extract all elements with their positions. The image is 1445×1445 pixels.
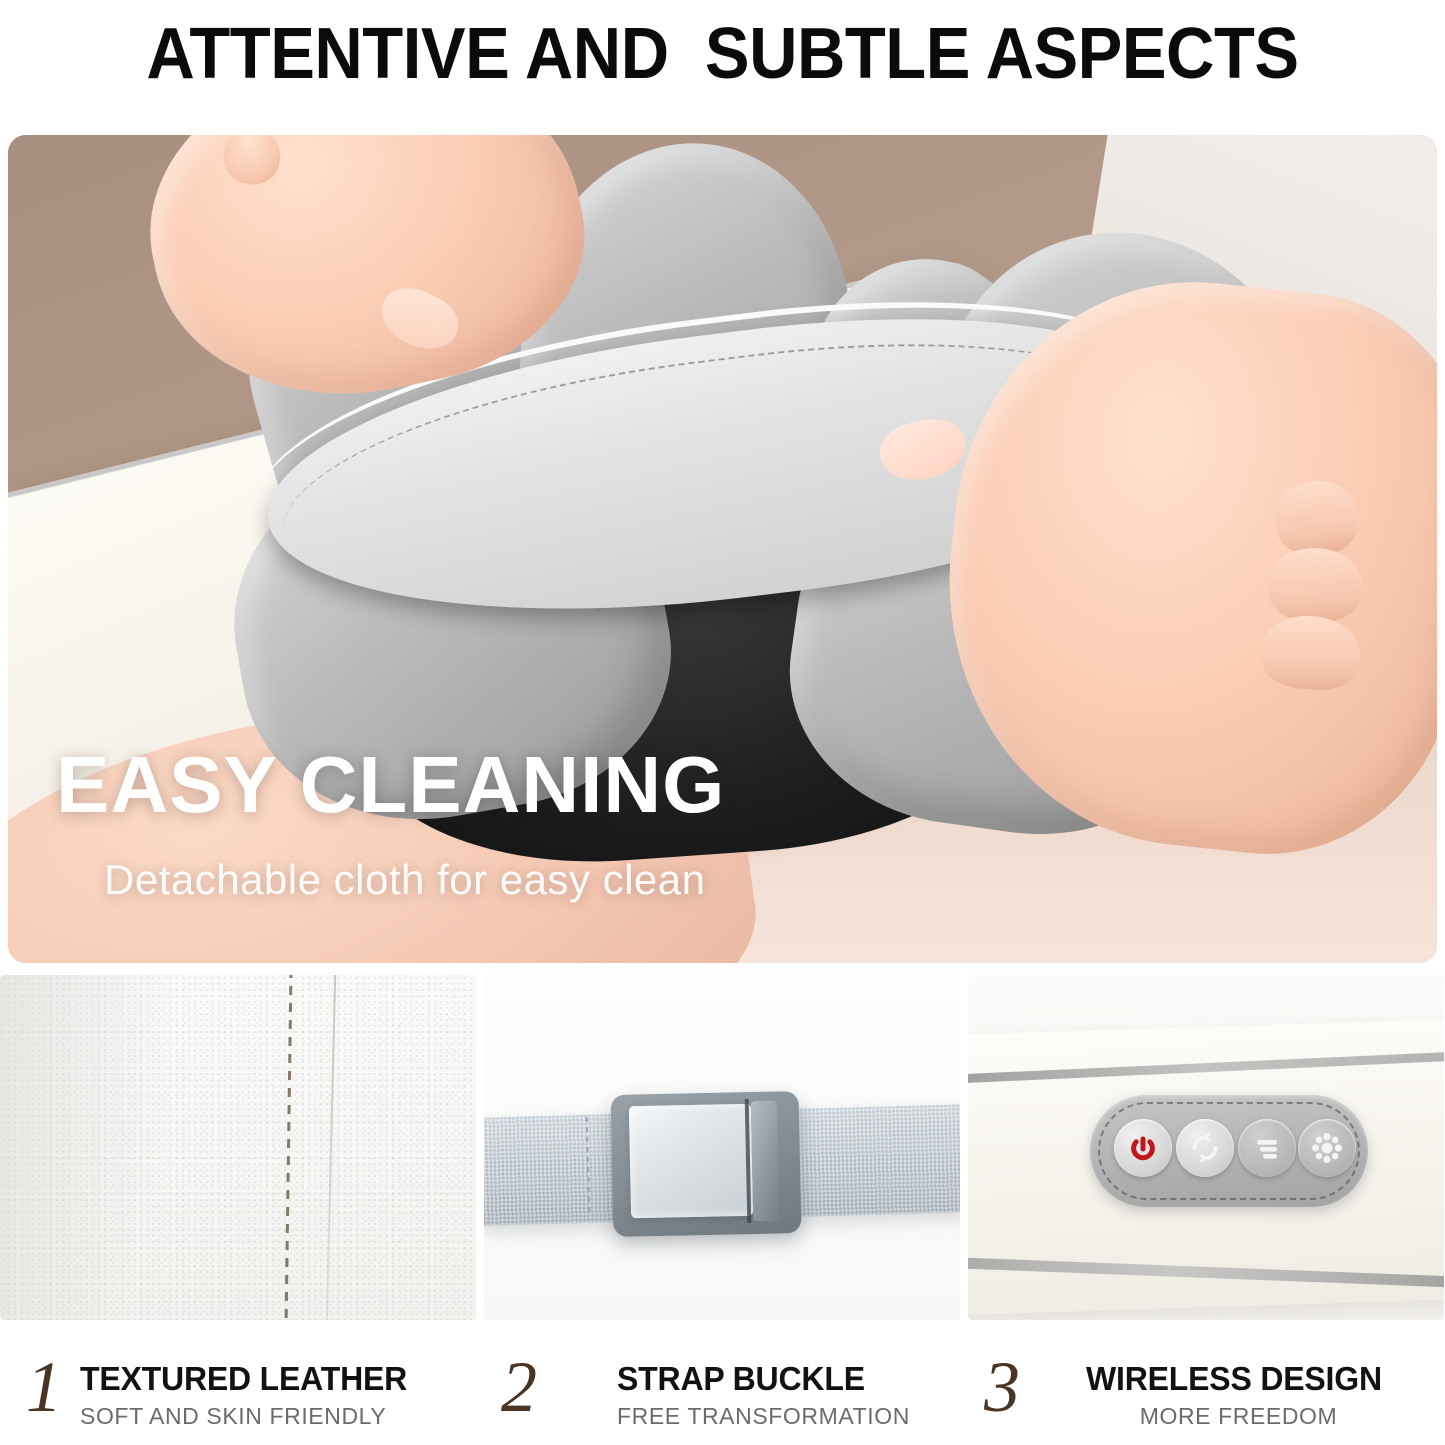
caption-item-2: 2 STRAP BUCKLE FREE TRANSFORMATION bbox=[481, 1338, 962, 1445]
caption-item-3: 3 WIRELESS DESIGN MORE FREEDOM bbox=[962, 1338, 1443, 1445]
leather-shading bbox=[0, 975, 210, 1320]
intensity-level-button[interactable] bbox=[1238, 1119, 1296, 1177]
page-title: ATTENTIVE AND SUBTLE ASPECTS bbox=[51, 16, 1395, 94]
hero-image: EASY CLEANING Detachable cloth for easy … bbox=[8, 135, 1437, 963]
caption-subtitle-2: FREE TRANSFORMATION bbox=[617, 1402, 910, 1431]
caption-number-1: 1 bbox=[26, 1354, 62, 1420]
right-hand-finger-1 bbox=[1274, 479, 1359, 555]
kneading-nodes-icon bbox=[1308, 1129, 1346, 1167]
thumbnail-control-panel bbox=[968, 975, 1444, 1320]
power-button[interactable] bbox=[1114, 1119, 1172, 1177]
hero-headline: EASY CLEANING bbox=[56, 745, 725, 825]
caption-row: 1 TEXTURED LEATHER SOFT AND SKIN FRIENDL… bbox=[0, 1338, 1445, 1445]
rotation-mode-button[interactable] bbox=[1176, 1119, 1234, 1177]
rotate-icon bbox=[1188, 1131, 1222, 1165]
buckle-bar bbox=[751, 1101, 780, 1222]
thumbnail-row bbox=[0, 975, 1445, 1320]
caption-text-3: WIRELESS DESIGN MORE FREEDOM bbox=[1086, 1358, 1391, 1430]
caption-title-1: TEXTURED LEATHER bbox=[80, 1362, 407, 1397]
buckle-plate bbox=[629, 1104, 753, 1219]
thumbnail-strap-buckle bbox=[484, 975, 960, 1320]
power-icon bbox=[1126, 1131, 1160, 1165]
caption-text-1: TEXTURED LEATHER SOFT AND SKIN FRIENDLY bbox=[80, 1358, 417, 1430]
caption-number-2: 2 bbox=[501, 1354, 537, 1420]
kneading-mode-button[interactable] bbox=[1298, 1119, 1356, 1177]
caption-number-3: 3 bbox=[984, 1354, 1020, 1420]
caption-text-2: STRAP BUCKLE FREE TRANSFORMATION bbox=[617, 1358, 910, 1430]
caption-title-2: STRAP BUCKLE bbox=[617, 1362, 901, 1397]
hero-subline: Detachable cloth for easy clean bbox=[104, 859, 706, 901]
right-hand-finger-3 bbox=[1259, 612, 1363, 693]
caption-subtitle-1: SOFT AND SKIN FRIENDLY bbox=[80, 1402, 417, 1431]
thumbnail-textured-leather bbox=[0, 975, 476, 1320]
right-hand-finger-2 bbox=[1267, 547, 1362, 623]
left-hand-thumb bbox=[220, 135, 285, 190]
level-bars-icon bbox=[1250, 1131, 1284, 1165]
caption-item-1: 1 TEXTURED LEATHER SOFT AND SKIN FRIENDL… bbox=[0, 1338, 481, 1445]
caption-subtitle-3: MORE FREEDOM bbox=[1086, 1402, 1391, 1431]
caption-title-3: WIRELESS DESIGN bbox=[1086, 1362, 1382, 1397]
